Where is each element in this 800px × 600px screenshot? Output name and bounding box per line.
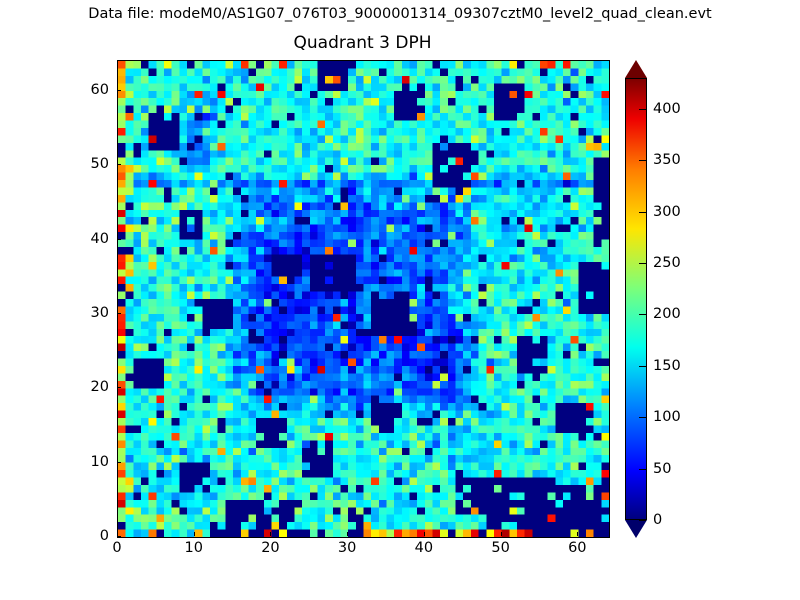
colorbar-tick-mark [639, 520, 646, 521]
x-tick-mark [501, 532, 502, 536]
x-tick-label: 30 [338, 540, 356, 556]
x-tick-label: 60 [568, 540, 586, 556]
colorbar-tick-mark [639, 160, 646, 161]
colorbar-tick-label: 100 [653, 409, 681, 425]
x-tick-mark [347, 532, 348, 536]
colorbar-over-arrow-icon [625, 60, 647, 78]
y-tick-mark [117, 313, 121, 314]
y-tick-mark [117, 536, 121, 537]
y-tick-mark [117, 462, 121, 463]
colorbar-tick-label: 50 [653, 461, 671, 477]
x-tick-mark [577, 532, 578, 536]
x-tick-label: 0 [112, 540, 121, 556]
colorbar-tick-mark [639, 212, 646, 213]
colorbar-tick-label: 300 [653, 204, 681, 220]
y-tick-mark [117, 90, 121, 91]
y-tick-label: 40 [67, 231, 109, 247]
colorbar-tick-mark [639, 469, 646, 470]
x-tick-label: 20 [261, 540, 279, 556]
colorbar-tick-label: 150 [653, 358, 681, 374]
data-file-label: Data file: modeM0/AS1G07_076T03_90000013… [0, 6, 800, 22]
y-tick-label: 0 [67, 528, 109, 544]
colorbar-tick-label: 0 [653, 512, 662, 528]
x-tick-label: 50 [491, 540, 509, 556]
y-tick-mark [117, 239, 121, 240]
figure-canvas: Data file: modeM0/AS1G07_076T03_90000013… [0, 0, 800, 600]
y-tick-mark [117, 164, 121, 165]
colorbar[interactable] [625, 60, 649, 538]
colorbar-tick-mark [639, 109, 646, 110]
x-tick-label: 10 [184, 540, 202, 556]
colorbar-tick-label: 400 [653, 101, 681, 117]
colorbar-tick-mark [639, 417, 646, 418]
colorbar-tick-label: 250 [653, 255, 681, 271]
heatmap-axes[interactable] [117, 60, 610, 538]
y-tick-label: 50 [67, 156, 109, 172]
colorbar-tick-mark [639, 314, 646, 315]
heatmap-image[interactable] [118, 61, 609, 537]
y-tick-label: 30 [67, 305, 109, 321]
y-tick-label: 60 [67, 82, 109, 98]
colorbar-tick-mark [639, 263, 646, 264]
x-tick-mark [194, 532, 195, 536]
plot-title: Quadrant 3 DPH [117, 33, 608, 53]
y-tick-label: 20 [67, 379, 109, 395]
x-tick-label: 40 [415, 540, 433, 556]
y-tick-label: 10 [67, 454, 109, 470]
colorbar-under-arrow-icon [625, 520, 647, 538]
colorbar-tick-label: 350 [653, 152, 681, 168]
x-tick-mark [424, 532, 425, 536]
colorbar-gradient[interactable] [625, 78, 647, 520]
colorbar-tick-label: 200 [653, 306, 681, 322]
x-tick-mark [270, 532, 271, 536]
y-tick-mark [117, 387, 121, 388]
colorbar-tick-mark [639, 366, 646, 367]
